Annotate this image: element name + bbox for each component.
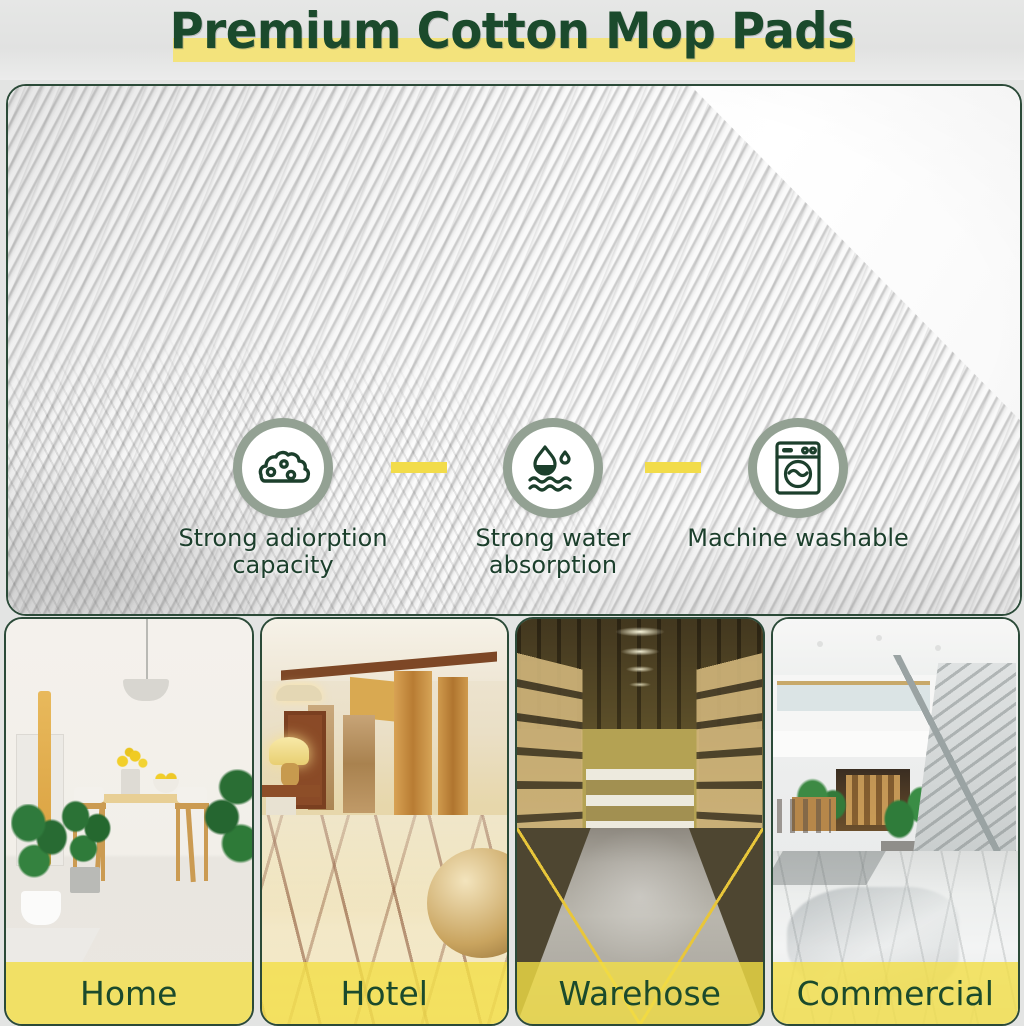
thumbnail-caption: Warehose (517, 962, 763, 1024)
hotel-wood-column (394, 671, 432, 821)
hotel-lamp-base (281, 763, 299, 787)
thumbnail-card-home[interactable]: Home (4, 617, 254, 1026)
feature-badge-circle (233, 418, 333, 518)
warehouse-ceiling-lights (517, 623, 763, 733)
feature-item-adsorption: Strong adiorption capacity (158, 418, 408, 579)
home-vase (121, 769, 140, 797)
home-plant (11, 804, 69, 899)
thumbnail-card-warehouse[interactable]: Warehose (515, 617, 765, 1026)
thumbnail-card-commercial[interactable]: Commercial (771, 617, 1021, 1026)
feature-label: Strong adiorption capacity (158, 525, 408, 579)
feature-badge-circle (503, 418, 603, 518)
home-plant-pot (70, 867, 100, 893)
thumbnail-card-hotel[interactable]: Hotel (260, 617, 510, 1026)
hero-product-card: Strong adiorption capacity Strong water … (6, 84, 1022, 616)
hotel-stone-pillar (343, 715, 375, 813)
sponge-icon (255, 445, 311, 491)
mall-floor-shadow (771, 851, 886, 885)
mall-ceiling-light (817, 641, 823, 647)
water-drop-waves-icon (524, 443, 582, 493)
hotel-console-table (262, 785, 321, 797)
use-case-thumbnail-row: Home Hotel (0, 617, 1024, 1024)
hotel-table-lamp (269, 737, 309, 765)
home-plant-pot (21, 891, 61, 925)
mall-shoppers (777, 799, 831, 833)
title-wrap: Premium Cotton Mop Pads (0, 0, 1024, 80)
washing-machine-icon (772, 440, 824, 496)
header-banner: Premium Cotton Mop Pads (0, 0, 1024, 80)
home-pendant-lamp (123, 679, 169, 701)
thumbnail-caption: Hotel (262, 962, 508, 1024)
feature-badge-circle (748, 418, 848, 518)
mall-ceiling-light (935, 645, 941, 651)
home-plant (194, 769, 254, 889)
hotel-wood-column (438, 677, 468, 817)
home-lamp-cord (146, 619, 148, 681)
hotel-ceiling-light (276, 685, 322, 701)
feature-item-water-absorption: Strong water absorption (428, 418, 678, 579)
thumbnail-caption: Commercial (773, 962, 1019, 1024)
feature-badge-row: Strong adiorption capacity Strong water … (8, 418, 1020, 608)
home-rug (4, 928, 100, 962)
thumbnail-caption: Home (6, 962, 252, 1024)
feature-item-machine-washable: Machine washable (673, 418, 923, 552)
feature-label: Strong water absorption (428, 525, 678, 579)
page-title: Premium Cotton Mop Pads (36, 2, 988, 60)
feature-label: Machine washable (673, 525, 923, 552)
mall-ceiling-light (876, 635, 882, 641)
